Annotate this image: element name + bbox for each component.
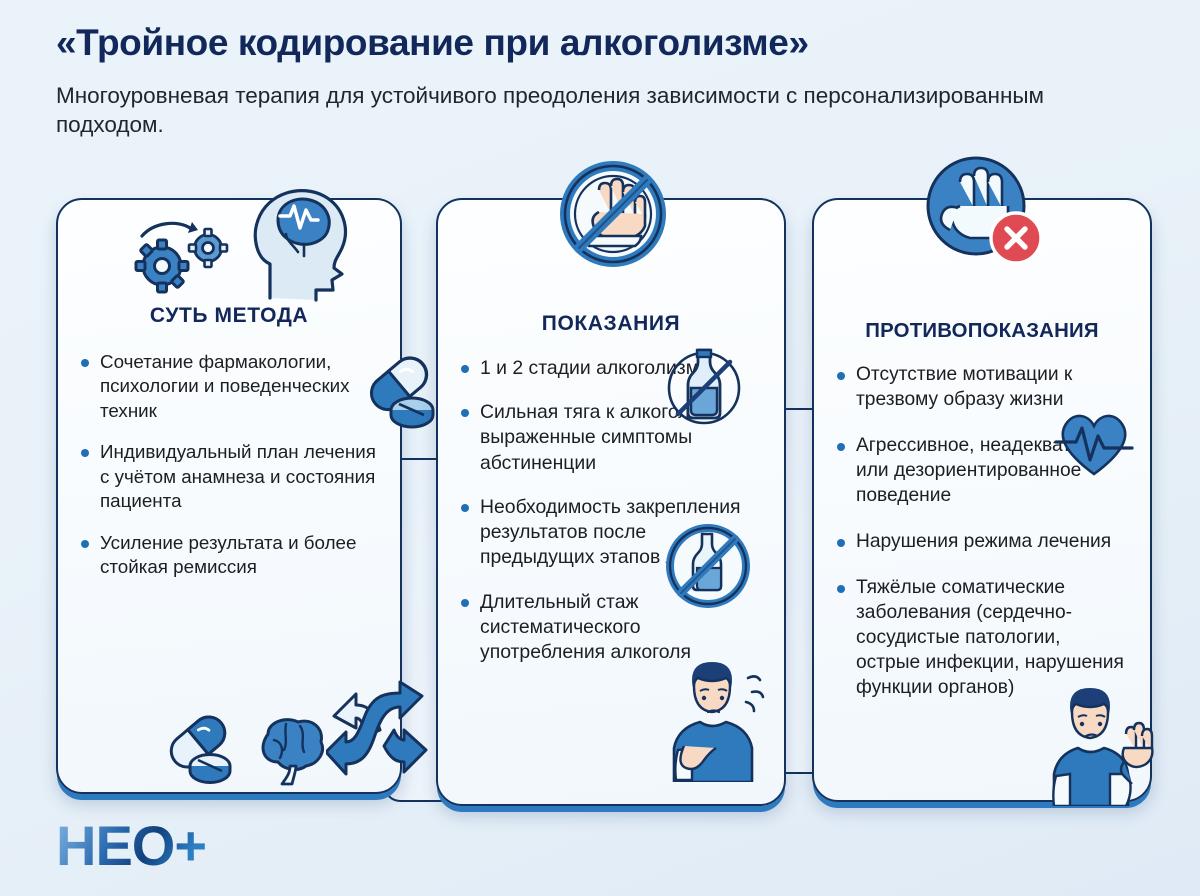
header: «Тройное кодирование при алкоголизме» Мн…	[0, 0, 1200, 140]
stop-hand-icon	[555, 156, 671, 277]
brand-logo: НЕО+	[56, 818, 206, 874]
hand-stop-cross-icon	[918, 152, 1044, 279]
list-item: Сочетание фармакологии, психологии и пов…	[80, 350, 378, 423]
pills-icon	[354, 348, 446, 439]
list-item: Усиление результата и более стойкая реми…	[80, 531, 378, 580]
shuffle-arrows-icon	[326, 680, 430, 787]
brain-icon	[248, 712, 328, 793]
head-brain-ecg-icon	[238, 178, 368, 311]
cards-board: СУТЬ МЕТОДА Сочетание фармакологии, псих…	[0, 186, 1200, 826]
logo-text: НЕО+	[56, 818, 206, 874]
man-thinking-icon	[656, 650, 774, 787]
list-item: Нарушения режима лечения	[836, 530, 1128, 555]
page-title: «Тройное кодирование при алкоголизме»	[56, 22, 1200, 65]
pills-icon	[156, 708, 244, 795]
gears-icon	[128, 214, 238, 299]
no-bottle-icon	[660, 342, 748, 435]
list-item: Индивидуальный план лечения с учётом ана…	[80, 440, 378, 513]
card-sut-metoda[interactable]: СУТЬ МЕТОДА Сочетание фармакологии, псих…	[56, 198, 402, 794]
man-waving-icon	[1046, 678, 1158, 811]
page-subtitle: Многоуровневая терапия для устойчивого п…	[56, 81, 1146, 141]
no-bottle-icon	[662, 520, 754, 617]
heart-pulse-icon	[1054, 406, 1134, 485]
card-pokazaniya[interactable]: ПОКАЗАНИЯ 1 и 2 стадии алкоголизма Сильн…	[436, 198, 786, 806]
card-protivopokazaniya[interactable]: ПРОТИВОПОКАЗАНИЯ Отсутствие мотивации к …	[812, 198, 1152, 802]
card1-bullets: Сочетание фармакологии, психологии и пов…	[80, 350, 378, 579]
